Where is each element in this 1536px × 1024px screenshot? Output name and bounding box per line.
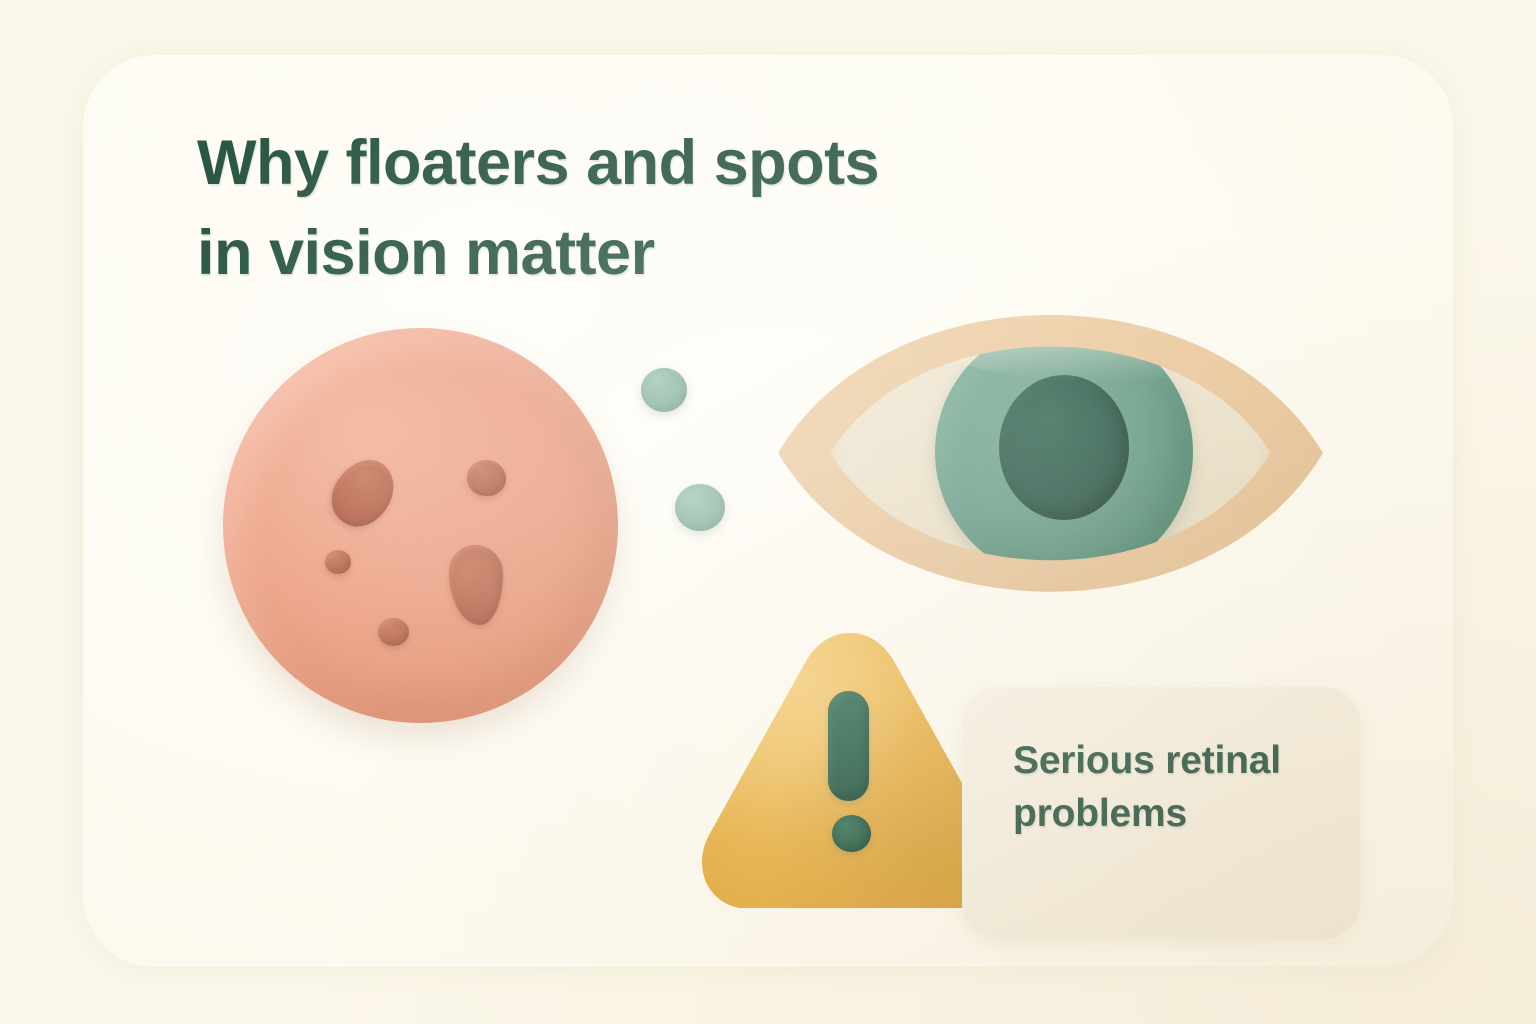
floating-dot-icon: [675, 484, 725, 531]
illustration-canvas: Why floaters and spots in vision matter: [0, 0, 1536, 1024]
floating-dot-icon: [641, 368, 687, 412]
callout-card: Serious retinal problems: [962, 687, 1360, 939]
floater-spot-icon: [325, 550, 351, 574]
floater-spot-icon: [467, 460, 506, 496]
warning-triangle-icon: [695, 625, 1005, 917]
main-illustration-card: Why floaters and spots in vision matter: [83, 55, 1453, 967]
pupil-shape: [999, 375, 1129, 520]
floater-spot-icon: [449, 545, 503, 625]
exclamation-bar: [828, 691, 869, 801]
floater-spot-icon: [378, 618, 409, 646]
page-title-line-1: Why floaters and spots: [197, 128, 879, 198]
floater-spot-icon: [320, 448, 406, 537]
exclamation-dot: [832, 815, 871, 852]
callout-text: Serious retinal problems: [1013, 734, 1313, 840]
eye-icon: [778, 261, 1323, 646]
retina-disc-icon: [223, 328, 618, 723]
